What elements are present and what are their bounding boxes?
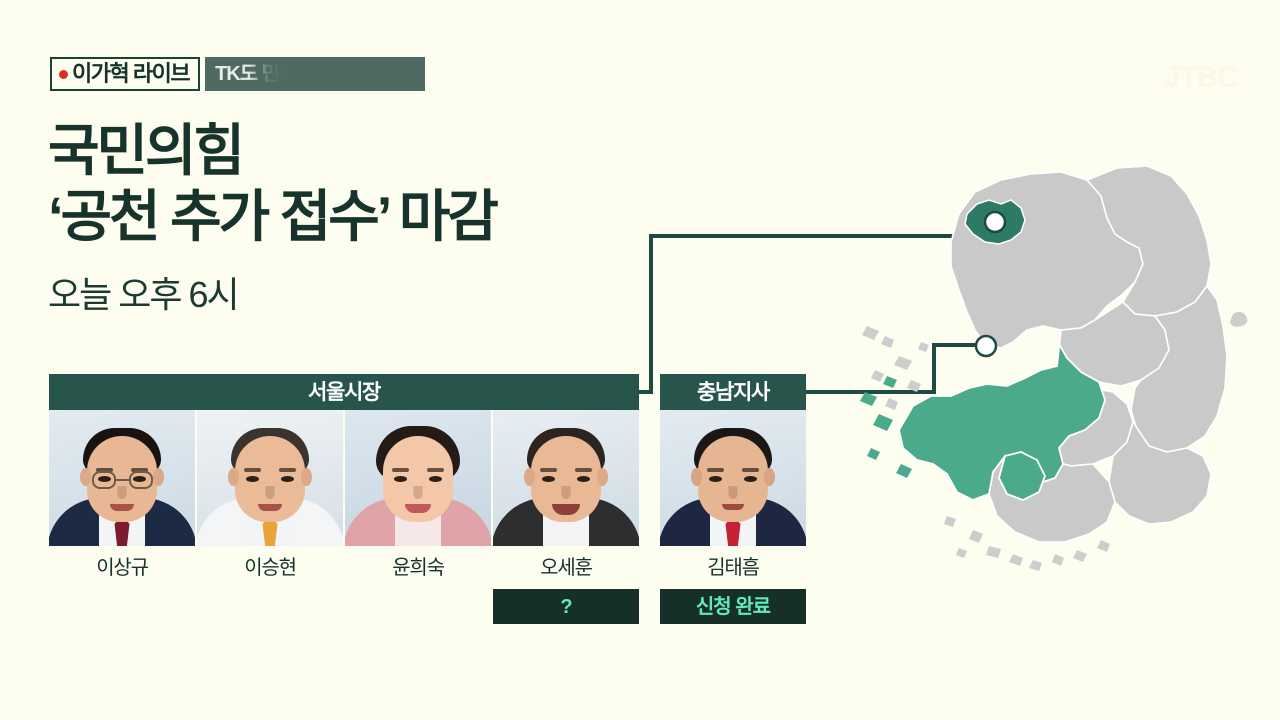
candidate-name: 이상규	[49, 546, 195, 584]
badge-slot: 신청 완료	[660, 589, 806, 624]
candidate-name: 윤희숙	[345, 546, 491, 584]
badge-slot: ?	[493, 589, 639, 624]
headline-block: 국민의힘 ‘공천 추가 접수’ 마감 오늘 오후 6시	[48, 118, 668, 318]
candidate-card[interactable]: 오세훈	[493, 410, 639, 584]
candidate-card[interactable]: 이상규	[49, 410, 195, 584]
status-badge: ?	[493, 589, 639, 624]
korea-map-svg	[855, 130, 1280, 720]
brand-logo-label: 이가혁 라이브	[72, 63, 189, 85]
status-badge: 신청 완료	[660, 589, 806, 624]
panel-chungnam-cards: 김태흠	[660, 410, 806, 584]
candidate-name: 오세훈	[493, 546, 639, 584]
brand-logo: 이가혁 라이브	[50, 57, 200, 91]
candidate-card[interactable]: 윤희숙	[345, 410, 491, 584]
panel-seoul-badges: ?	[49, 589, 639, 624]
candidate-photo	[345, 410, 491, 546]
headline-subtitle: 오늘 오후 6시	[48, 266, 668, 318]
candidate-name: 이승현	[197, 546, 343, 584]
panel-seoul-header-label: 서울시장	[308, 382, 380, 403]
panel-chungnam: 충남지사 김태흠	[660, 374, 806, 624]
channel-watermark: JTBC	[1118, 52, 1238, 104]
panel-seoul-cards: 이상규 이승현	[49, 410, 639, 584]
news-ticker: TK도 민주~	[205, 57, 425, 91]
headline-line-2: ‘공천 추가 접수’ 마감	[48, 184, 668, 250]
badge-slot-empty	[49, 589, 195, 624]
live-dot-icon	[59, 70, 68, 79]
candidate-card[interactable]: 이승현	[197, 410, 343, 584]
candidate-name: 김태흠	[660, 546, 806, 584]
candidate-card[interactable]: 김태흠	[660, 410, 806, 584]
map-marker-seoul	[985, 212, 1005, 232]
candidate-photo	[660, 410, 806, 546]
news-ticker-text: TK도 민주~	[205, 64, 307, 84]
candidate-photo	[197, 410, 343, 546]
candidate-photo	[493, 410, 639, 546]
map-marker-chungnam	[976, 336, 996, 356]
badge-slot-empty	[345, 589, 491, 624]
panel-chungnam-header: 충남지사	[660, 374, 806, 410]
panel-seoul-header: 서울시장	[49, 374, 639, 410]
candidate-photo	[49, 410, 195, 546]
map-island-ulleung	[1230, 312, 1247, 327]
panel-chungnam-badges: 신청 완료	[660, 589, 806, 624]
eyeglasses-icon	[92, 471, 116, 489]
panel-seoul: 서울시장	[49, 374, 639, 624]
headline-line-1: 국민의힘	[48, 118, 668, 184]
panel-chungnam-header-label: 충남지사	[697, 382, 769, 403]
top-brand-bar: 이가혁 라이브 TK도 민주~	[50, 57, 425, 91]
korea-map	[855, 130, 1280, 720]
badge-slot-empty	[197, 589, 343, 624]
